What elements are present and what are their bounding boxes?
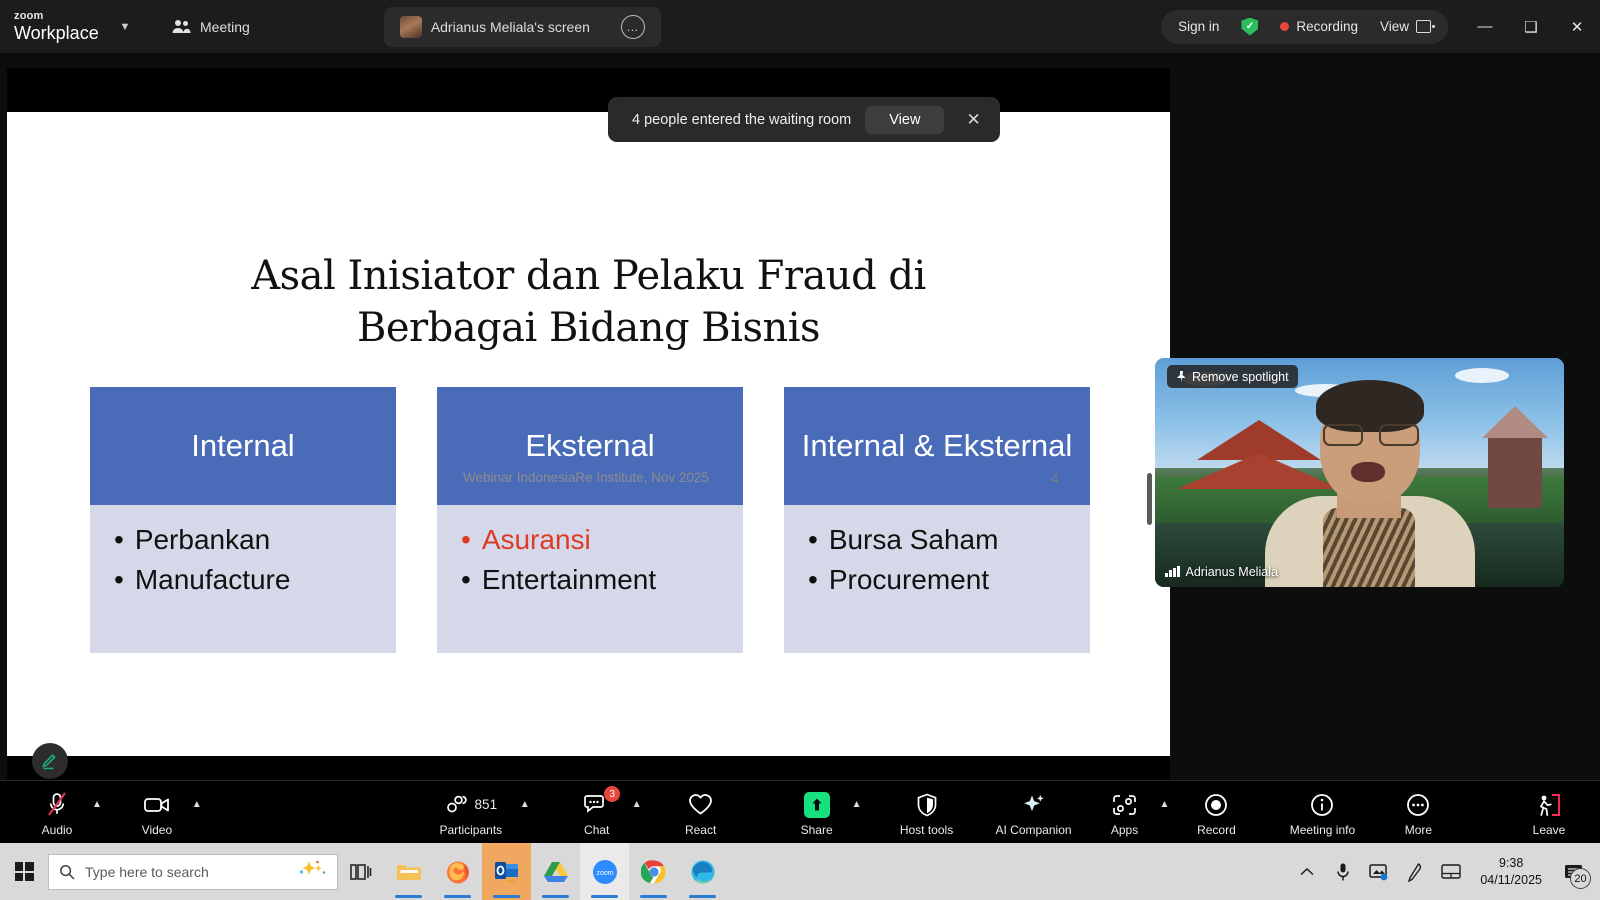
zoom-logo: zoom Workplace [0, 11, 108, 42]
recording-indicator[interactable]: Recording [1269, 14, 1369, 40]
close-icon[interactable]: ✕ [1554, 0, 1600, 53]
building-tower [1488, 436, 1542, 508]
video-options-chevron-icon[interactable]: ▲ [186, 795, 208, 814]
chat-icon: 3 [584, 791, 609, 818]
pencil-icon [40, 751, 60, 771]
heart-icon [688, 791, 713, 818]
participant-mouth [1351, 462, 1385, 482]
list-item-label: Procurement [829, 563, 989, 597]
toolbar-audio-button[interactable]: Audio [28, 787, 86, 837]
camera-icon [144, 791, 170, 818]
list-item-label: Entertainment [482, 563, 656, 597]
share-screen-icon [804, 791, 830, 818]
taskbar-app-file-explorer[interactable] [384, 843, 433, 900]
sign-in-label: Sign in [1178, 19, 1219, 34]
bullet-icon: • [808, 563, 818, 596]
video-tile-adrianus-meliala[interactable]: Remove spotlight Adrianus Meliala [1155, 358, 1564, 587]
notification-center-button[interactable]: 20 [1554, 843, 1594, 900]
toolbar-host-tools-button[interactable]: Host tools [890, 787, 964, 837]
toolbar-ai-companion-label: AI Companion [996, 823, 1072, 837]
touchpad-icon[interactable] [1434, 843, 1468, 900]
ellipsis-icon[interactable]: … [621, 15, 645, 39]
participant-shirt-pattern [1323, 508, 1415, 587]
shared-screen-area: Asal Inisiator dan Pelaku Fraud di Berba… [7, 68, 1170, 781]
toolbar-record-button[interactable]: Record [1187, 787, 1245, 837]
chrome-icon [641, 859, 667, 885]
building-roof-lower [1177, 453, 1341, 489]
signal-bars-icon [1165, 566, 1180, 577]
view-button[interactable]: View [1369, 14, 1442, 40]
zoom-meeting-toolbar: Audio ▲ Video ▲ 851 [0, 780, 1600, 843]
participant-name-label: Adrianus Meliala [1186, 565, 1278, 579]
slide-title-line-2: Berbagai Bidang Bisnis [7, 302, 1170, 354]
toolbar-apps-button[interactable]: Apps [1096, 787, 1154, 837]
close-icon[interactable]: ✕ [958, 110, 988, 130]
column-body: •Perbankan •Manufacture [90, 505, 396, 653]
toolbar-record-label: Record [1197, 823, 1236, 837]
participant-glasses [1323, 424, 1419, 446]
chevron-up-icon[interactable] [1290, 843, 1324, 900]
clock-time: 9:38 [1499, 855, 1523, 872]
meeting-stage: Asal Inisiator dan Pelaku Fraud di Berba… [0, 53, 1600, 780]
search-placeholder: Type here to search [85, 864, 209, 880]
toolbar-participants-label: Participants [439, 823, 502, 837]
tab-meeting-label: Meeting [200, 19, 250, 35]
toolbar-apps-label: Apps [1111, 823, 1138, 837]
column-body: •Asuransi •Entertainment [437, 505, 743, 653]
apps-icon [1112, 791, 1137, 818]
list-item-label: Manufacture [135, 563, 291, 597]
taskbar-app-google-drive[interactable] [531, 843, 580, 900]
list-item: •Manufacture [114, 563, 396, 597]
folder-icon [396, 861, 422, 883]
column-header: Internal & Eksternal [784, 387, 1090, 505]
bullet-icon: • [114, 523, 124, 556]
toolbar-react-label: React [685, 823, 716, 837]
toolbar-leave-button[interactable]: Leave [1520, 787, 1578, 837]
bullet-icon: • [114, 563, 124, 596]
svg-text:zoom: zoom [596, 870, 613, 877]
list-item-highlighted: •Asuransi [461, 523, 743, 557]
remove-spotlight-label: Remove spotlight [1192, 370, 1289, 384]
column-header: Internal [90, 387, 396, 505]
share-options-chevron-icon[interactable]: ▲ [846, 795, 868, 814]
toolbar-ai-companion-button[interactable]: AI Companion [988, 787, 1080, 837]
slide-column: Internal •Perbankan •Manufacture [90, 387, 396, 653]
taskbar-app-zoom[interactable]: zoom [580, 843, 629, 900]
toolbar-chat-button[interactable]: 3 Chat [568, 787, 626, 837]
restore-icon[interactable]: ❑ [1508, 0, 1554, 53]
view-label: View [1380, 19, 1409, 34]
cloud-decoration [1455, 368, 1509, 383]
slide-title: Asal Inisiator dan Pelaku Fraud di Berba… [7, 250, 1170, 354]
task-view-icon[interactable] [338, 843, 384, 900]
taskbar-app-chrome[interactable] [629, 843, 678, 900]
toolbar-participants-button[interactable]: 851 Participants [428, 787, 514, 837]
list-item-label: Bursa Saham [829, 523, 999, 557]
waiting-room-toast: 4 people entered the waiting room View ✕ [608, 97, 1000, 142]
toolbar-share-button[interactable]: Share [788, 787, 846, 837]
avatar [400, 16, 422, 38]
chevron-down-icon[interactable]: ▼ [108, 10, 142, 44]
toolbar-share-label: Share [801, 823, 833, 837]
slide-page-number: 4 [1051, 470, 1059, 486]
chat-options-chevron-icon[interactable]: ▲ [626, 795, 648, 814]
toolbar-chat-label: Chat [584, 823, 609, 837]
taskbar-app-outlook[interactable] [482, 843, 531, 900]
tab-shared-screen[interactable]: Adrianus Meliala's screen … [384, 7, 661, 47]
pen-icon[interactable] [1398, 843, 1432, 900]
record-icon [1204, 791, 1228, 818]
toolbar-meeting-info-label: Meeting info [1290, 823, 1355, 837]
sign-in-button[interactable]: Sign in [1167, 14, 1230, 40]
toolbar-host-tools-label: Host tools [900, 823, 953, 837]
toolbar-react-button[interactable]: React [672, 787, 730, 837]
toolbar-meeting-info-button[interactable]: Meeting info [1277, 787, 1367, 837]
participants-options-chevron-icon[interactable]: ▲ [514, 795, 536, 814]
remove-spotlight-button[interactable]: Remove spotlight [1167, 365, 1298, 388]
participants-icon: 851 [445, 791, 498, 818]
bullet-icon: • [461, 563, 471, 596]
list-item: •Bursa Saham [808, 523, 1090, 557]
search-icon [59, 864, 75, 880]
microphone-icon[interactable] [1326, 843, 1360, 900]
zoom-title-bar: zoom Workplace ▼ Meeting Adrianus Melial… [0, 0, 1600, 53]
column-body: •Bursa Saham •Procurement [784, 505, 1090, 653]
participant-name-badge: Adrianus Meliala [1159, 561, 1284, 582]
record-dot-icon [1280, 22, 1289, 31]
slide-title-line-1: Asal Inisiator dan Pelaku Fraud di [7, 250, 1170, 302]
toolbar-leave-label: Leave [1533, 823, 1566, 837]
layout-icon [1416, 20, 1431, 33]
toolbar-video-label: Video [142, 823, 172, 837]
zoom-logo-bottom: Workplace [14, 24, 108, 42]
toolbar-more-label: More [1405, 823, 1432, 837]
shield-check-icon: ✓ [1241, 18, 1258, 36]
titlebar-status-pill: Sign in ✓ Recording View [1161, 10, 1448, 44]
list-item-label: Perbankan [135, 523, 270, 557]
toolbar-more-button[interactable]: More [1389, 787, 1447, 837]
presentation-slide: Asal Inisiator dan Pelaku Fraud di Berba… [7, 112, 1170, 756]
share-scrollbar[interactable] [1147, 473, 1152, 525]
list-item-label: Asuransi [482, 523, 591, 557]
windows-start-icon[interactable] [0, 843, 48, 900]
audio-options-chevron-icon[interactable]: ▲ [86, 795, 108, 814]
slide-column: Eksternal •Asuransi •Entertainment [437, 387, 743, 653]
taskbar-app-edge[interactable] [678, 843, 727, 900]
list-item: •Procurement [808, 563, 1090, 597]
search-input[interactable]: Type here to search [48, 854, 338, 890]
screen-icon[interactable] [1362, 843, 1396, 900]
building-tower-roof [1482, 406, 1548, 438]
participants-count: 851 [475, 797, 498, 812]
taskbar-apps: zoom [384, 843, 727, 900]
bullet-icon: • [461, 523, 471, 556]
recording-label: Recording [1296, 19, 1358, 34]
clock-date: 04/11/2025 [1480, 872, 1542, 889]
edge-icon [690, 859, 716, 885]
slide-columns: Internal •Perbankan •Manufacture Ekstern… [90, 387, 1090, 653]
leave-icon [1536, 791, 1562, 818]
chat-unread-badge: 3 [604, 786, 620, 802]
windows-taskbar: Type here to search [0, 843, 1600, 900]
bullet-icon: • [808, 523, 818, 556]
window-controls: — ❑ ✕ [1462, 0, 1600, 53]
column-header: Eksternal [437, 387, 743, 505]
tab-meeting[interactable]: Meeting [156, 7, 266, 47]
microphone-muted-icon [47, 791, 67, 818]
list-item: •Perbankan [114, 523, 396, 557]
taskbar-app-firefox[interactable] [433, 843, 482, 900]
copilot-sparkle-icon[interactable] [289, 859, 329, 884]
shield-icon [916, 791, 938, 818]
info-icon [1310, 791, 1334, 818]
tab-shared-screen-label: Adrianus Meliala's screen [431, 19, 590, 35]
ellipsis-icon [1406, 791, 1430, 818]
waiting-room-message: 4 people entered the waiting room [632, 112, 851, 128]
toolbar-audio-label: Audio [42, 823, 73, 837]
apps-options-chevron-icon[interactable]: ▲ [1154, 795, 1176, 814]
drive-icon [543, 860, 569, 883]
waiting-room-view-button[interactable]: View [865, 106, 944, 134]
firefox-icon [445, 859, 471, 885]
participants-icon [172, 19, 191, 34]
minimize-icon[interactable]: — [1462, 0, 1508, 53]
notification-count: 20 [1570, 868, 1591, 889]
pin-icon [1176, 371, 1187, 383]
taskbar-clock[interactable]: 9:38 04/11/2025 [1470, 855, 1552, 889]
annotate-button[interactable] [32, 743, 68, 779]
toolbar-video-button[interactable]: Video [128, 787, 186, 837]
security-button[interactable]: ✓ [1230, 14, 1269, 40]
zoom-icon: zoom [591, 858, 619, 886]
zoom-logo-top: zoom [14, 11, 108, 22]
list-item: •Entertainment [461, 563, 743, 597]
outlook-icon [494, 860, 520, 884]
system-tray: 9:38 04/11/2025 20 [1290, 843, 1600, 900]
slide-footer-source: Webinar IndonesiaRe Institute, Nov 2025 [463, 470, 709, 485]
sparkle-icon [1022, 791, 1046, 818]
slide-column: Internal & Eksternal •Bursa Saham •Procu… [784, 387, 1090, 653]
